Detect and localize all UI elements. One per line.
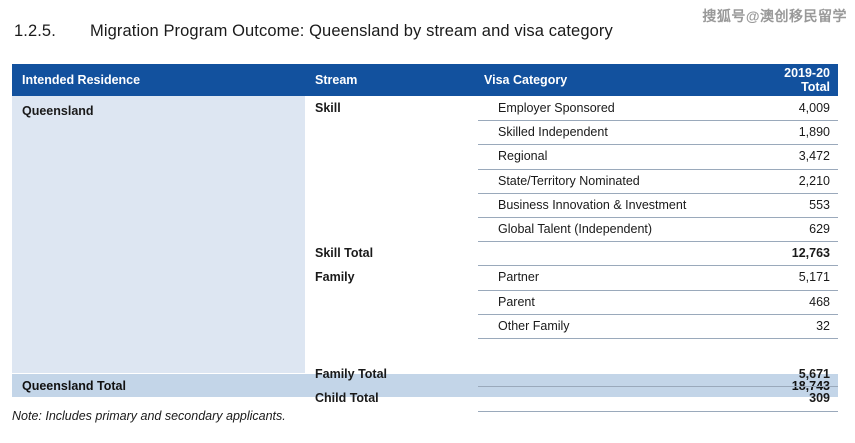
table-row: SkillEmployer Sponsored4,009 — [12, 96, 838, 120]
cell-total-value: 1,890 — [799, 120, 830, 144]
cell-stream: Family — [315, 265, 355, 289]
table-row: Skill Total12,763 — [12, 241, 838, 265]
column-header-total-year: 2019-20 — [784, 66, 830, 80]
cell-total-value: 3,472 — [799, 144, 830, 168]
table-row — [12, 338, 838, 362]
cell-stream: Skill — [315, 96, 341, 120]
cell-visa-category: State/Territory Nominated — [478, 169, 838, 193]
table-row: State/Territory Nominated2,210 — [12, 169, 838, 193]
table-row: Skilled Independent1,890 — [12, 120, 838, 144]
cell-total-value: 32 — [816, 314, 830, 338]
table-row: Child Total309 — [12, 386, 838, 410]
column-header-visa-category: Visa Category — [484, 64, 567, 96]
cell-visa-category — [478, 362, 838, 386]
cell-total-value: 309 — [809, 386, 830, 410]
table-row: Family Total5,671 — [12, 362, 838, 386]
column-header-stream: Stream — [315, 64, 357, 96]
cell-visa-category: Skilled Independent — [478, 120, 838, 144]
cell-visa-category: Parent — [478, 290, 838, 314]
cell-total-value: 5,671 — [799, 362, 830, 386]
cell-total-value: 12,763 — [792, 241, 830, 265]
table-note: Note: Includes primary and secondary app… — [12, 409, 286, 423]
table-row: FamilyPartner5,171 — [12, 265, 838, 289]
table-row: Parent468 — [12, 290, 838, 314]
column-header-total: 2019-20 Total — [784, 64, 830, 96]
cell-visa-category: Partner — [478, 265, 838, 289]
cell-total-value: 629 — [809, 217, 830, 241]
table-row: Business Innovation & Investment553 — [12, 193, 838, 217]
cell-stream: Family Total — [315, 362, 387, 386]
cell-visa-category: Global Talent (Independent) — [478, 217, 838, 241]
cell-visa-category: Business Innovation & Investment — [478, 193, 838, 217]
column-header-intended-residence: Intended Residence — [22, 64, 140, 96]
table-rows-container: SkillEmployer Sponsored4,009Skilled Inde… — [12, 96, 838, 373]
cell-total-value: 4,009 — [799, 96, 830, 120]
section-title: Migration Program Outcome: Queensland by… — [90, 22, 613, 41]
table-row: Regional3,472 — [12, 144, 838, 168]
page-title: 1.2.5. Migration Program Outcome: Queens… — [0, 14, 855, 48]
cell-stream: Child Total — [315, 386, 379, 410]
table-row: Global Talent (Independent)629 — [12, 217, 838, 241]
migration-outcome-table: Intended Residence Stream Visa Category … — [12, 64, 838, 397]
cell-total-value: 553 — [809, 193, 830, 217]
column-header-total-label: Total — [801, 80, 830, 94]
residence-value-queensland: Queensland — [22, 104, 94, 118]
cell-visa-category — [478, 241, 838, 265]
cell-visa-category: Other Family — [478, 314, 838, 338]
table-header-row: Intended Residence Stream Visa Category … — [12, 64, 838, 96]
cell-stream: Skill Total — [315, 241, 373, 265]
cell-visa-category — [478, 386, 838, 410]
row-divider — [478, 411, 838, 412]
section-number: 1.2.5. — [0, 22, 90, 41]
table-body: Queensland SkillEmployer Sponsored4,009S… — [12, 96, 838, 373]
cell-total-value: 5,171 — [799, 265, 830, 289]
cell-visa-category: Employer Sponsored — [478, 96, 838, 120]
cell-visa-category: Regional — [478, 144, 838, 168]
cell-total-value: 2,210 — [799, 169, 830, 193]
cell-visa-category — [478, 338, 838, 362]
cell-total-value: 468 — [809, 290, 830, 314]
table-row: Other Family32 — [12, 314, 838, 338]
